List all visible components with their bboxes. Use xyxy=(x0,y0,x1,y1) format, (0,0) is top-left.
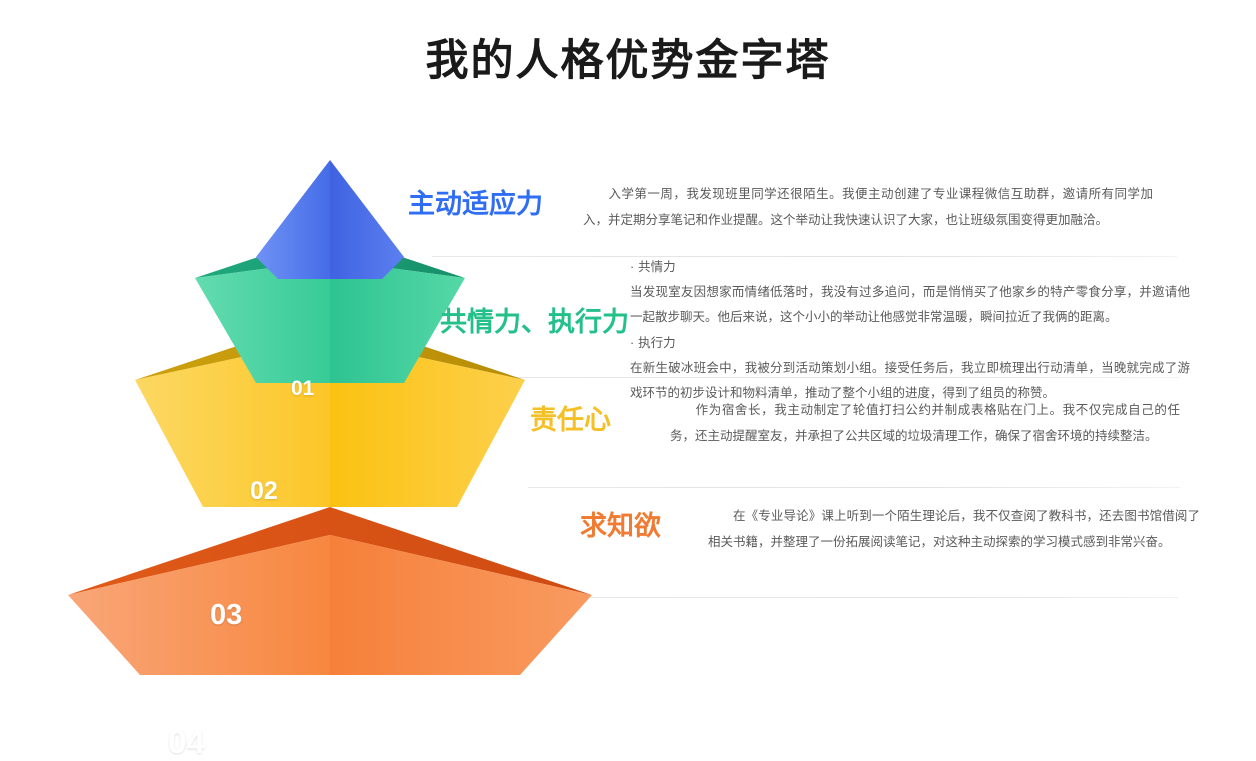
tier-heading-02: 共情力、执行力 xyxy=(440,256,630,338)
tier-body-04: 在《专业导论》课上听到一个陌生理论后，我不仅查阅了教科书，还去图书馆借阅了相关书… xyxy=(708,504,1200,555)
tier-body-01: 入学第一周，我发现班里同学还很陌生。我便主动创建了专业课程微信互助群，邀请所有同… xyxy=(583,182,1153,233)
pyramid-tier-01 xyxy=(256,160,404,279)
tier-content-03: 责任心 作为宿舍长，我主动制定了轮值打扫公约并制成表格贴在门上。我不仅完成自己的… xyxy=(530,398,1200,449)
tier-subbody-empathy: 当发现室友因想家而情绪低落时，我没有过多追问，而是悄悄买了他家乡的特产零食分享，… xyxy=(630,280,1190,330)
tier-content-01: 主动适应力 入学第一周，我发现班里同学还很陌生。我便主动创建了专业课程微信互助群… xyxy=(408,182,1198,233)
tier-subheading-empathy: 共情力 xyxy=(630,256,1190,280)
tier-body-03: 作为宿舍长，我主动制定了轮值打扫公约并制成表格贴在门上。我不仅完成自己的任务，还… xyxy=(670,398,1180,449)
tier-subsections-02: 共情力 当发现室友因想家而情绪低落时，我没有过多追问，而是悄悄买了他家乡的特产零… xyxy=(630,256,1190,408)
page-title: 我的人格优势金字塔 xyxy=(0,36,1256,88)
tier-content-04: 求知欲 在《专业导论》课上听到一个陌生理论后，我不仅查阅了教科书，还去图书馆借阅… xyxy=(580,504,1200,555)
tier-body-text-03: 作为宿舍长，我主动制定了轮值打扫公约并制成表格贴在门上。我不仅完成自己的任务，还… xyxy=(670,403,1180,443)
section-divider-3 xyxy=(528,487,1180,488)
tier-subbody-empathy-text: 当发现室友因想家而情绪低落时，我没有过多追问，而是悄悄买了他家乡的特产零食分享，… xyxy=(630,285,1190,324)
pyramid-tier-04 xyxy=(68,507,592,675)
section-divider-4 xyxy=(590,597,1178,598)
tier-heading-01: 主动适应力 xyxy=(408,182,583,220)
tier-number-04: 04 xyxy=(168,723,205,761)
tier-subbody-execution-text: 在新生破冰班会中，我被分到活动策划小组。接受任务后，我立即梳理出行动清单，当晚就… xyxy=(630,361,1190,400)
tier-content-02: 共情力、执行力 共情力 当发现室友因想家而情绪低落时，我没有过多追问，而是悄悄买… xyxy=(440,256,1200,408)
tier-heading-04: 求知欲 xyxy=(580,504,708,542)
tier-subheading-execution: 执行力 xyxy=(630,332,1190,356)
tier-body-text-04: 在《专业导论》课上听到一个陌生理论后，我不仅查阅了教科书，还去图书馆借阅了相关书… xyxy=(708,509,1200,549)
tier-body-text-01: 入学第一周，我发现班里同学还很陌生。我便主动创建了专业课程微信互助群，邀请所有同… xyxy=(583,187,1153,227)
tier-heading-03: 责任心 xyxy=(530,398,670,436)
